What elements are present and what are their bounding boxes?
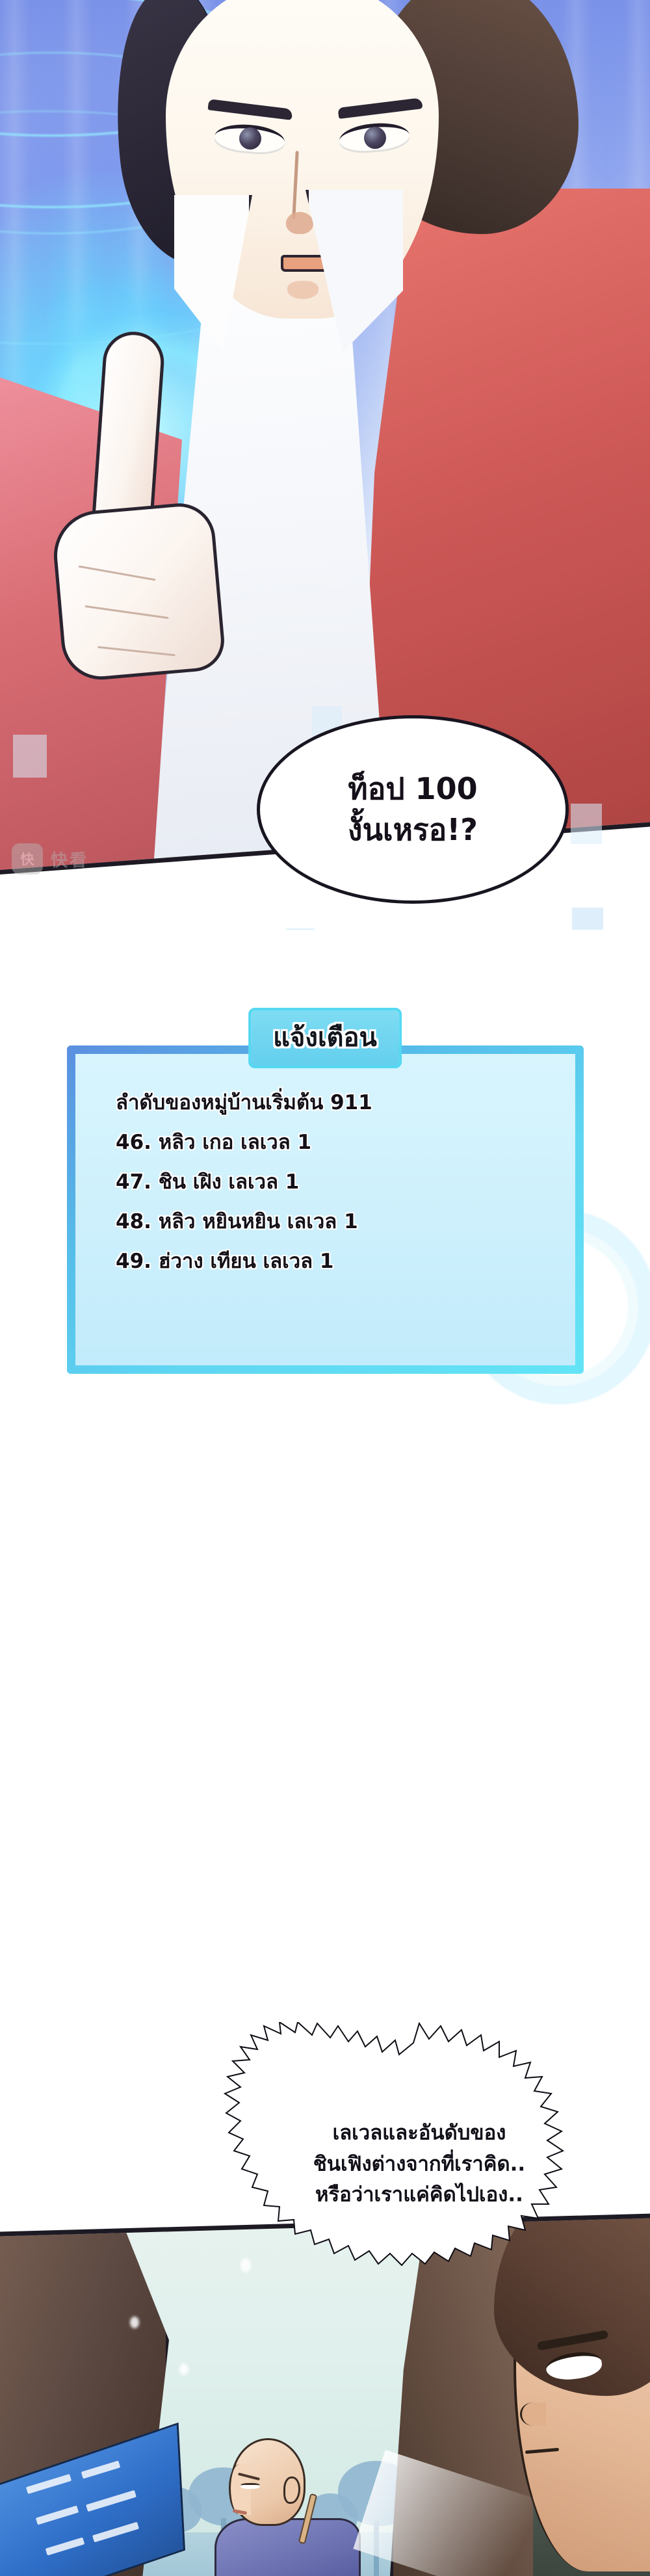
kuaikan-watermark: 快 快看 (12, 842, 116, 876)
thought-bubble-text: เลเวลและอันดับของ ชินเฟิงต่างจากที่เราคิ… (237, 2118, 601, 2210)
floating-square (571, 804, 602, 844)
notification-line: 49. ฮ่วาง เทียน เลเวล 1 (116, 1252, 575, 1272)
speech-bubble-top: ท็อป 100 งั้นเหรอ!? (257, 715, 569, 904)
speech-bubble-line-2: งั้นเหรอ!? (348, 813, 478, 847)
notification-line: 48. หลิว หยินหยิน เลเวล 1 (116, 1212, 575, 1232)
notification-panel: ลำดับของหมู่บ้านเริ่มต้น 911 46. หลิว เก… (67, 1045, 584, 1374)
notification-line: 46. หลิว เกอ เลเวล 1 (116, 1133, 575, 1153)
monk-robe (214, 2518, 361, 2576)
monk-eye (240, 2483, 260, 2489)
monk-face-profile (229, 2464, 251, 2515)
thought-bubble-line-2: ชินเฟิงต่างจากที่เราคิด.. (237, 2149, 601, 2179)
thought-bubble-line-1: เลเวลและอันดับของ (237, 2118, 601, 2149)
sparkle (179, 2363, 188, 2375)
nose-tip (286, 212, 313, 234)
hand-fist (50, 501, 227, 683)
notification-line: 47. ชิน เฝิง เลเวล 1 (116, 1172, 575, 1192)
watermark-text: 快看 (51, 847, 88, 871)
pupil-right (364, 127, 386, 149)
pupil-left (239, 127, 261, 150)
thought-bubble-line-3: หรือว่าเราแค่คิดไปเอง.. (237, 2179, 601, 2210)
speech-bubble-line-1: ท็อป 100 (348, 772, 477, 806)
notification-body: ลำดับของหมู่บ้านเริ่มต้น 911 46. หลิว เก… (75, 1054, 575, 1365)
chin-shadow (287, 281, 318, 299)
sparkle (130, 2317, 139, 2328)
notification-title-text: แจ้งเตือน (273, 1023, 377, 1053)
thought-bubble-bottom: เลเวลและอันดับของ ชินเฟิงต่างจากที่เราคิ… (195, 2022, 643, 2295)
notification-title-chip: แจ้งเตือน (248, 1008, 402, 1068)
watermark-logo-icon: 快 (12, 843, 43, 874)
foreground-character-nose (520, 2402, 546, 2426)
notification-line: ลำดับของหมู่บ้านเริ่มต้น 911 (116, 1093, 575, 1113)
floating-square (13, 735, 47, 778)
